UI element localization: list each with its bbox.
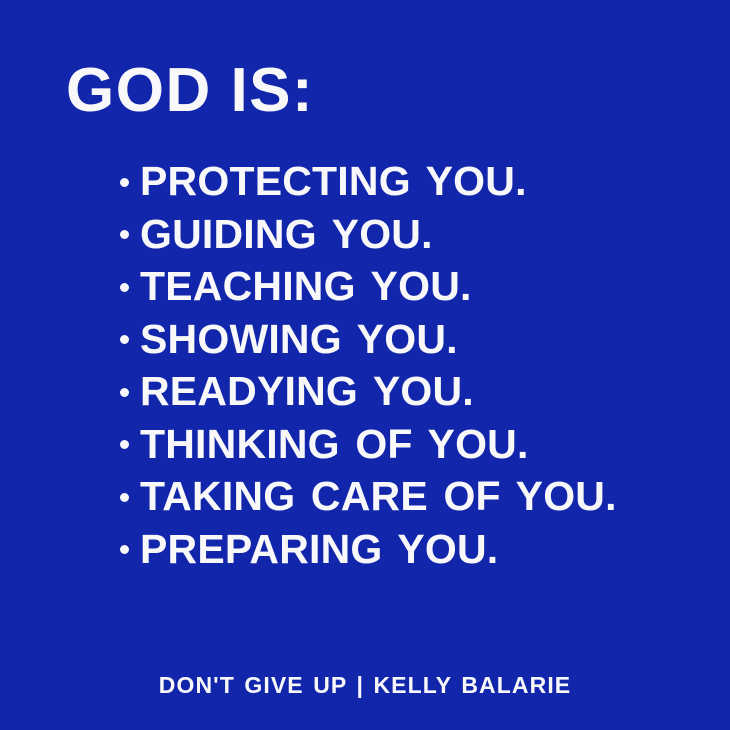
list-item-label: PREPARING YOU.	[140, 527, 498, 571]
list-item: SHOWING YOU.	[120, 313, 720, 366]
list-item-label: TEACHING YOU.	[140, 264, 472, 308]
page-title: GOD IS:	[66, 60, 314, 122]
list-item-label: SHOWING YOU.	[140, 317, 458, 361]
list-item: THINKING OF YOU.	[120, 418, 720, 471]
bullet-icon	[120, 335, 129, 344]
quote-poster: GOD IS: PROTECTING YOU. GUIDING YOU. TEA…	[0, 0, 730, 730]
list-item: GUIDING YOU.	[120, 208, 720, 261]
list-item: TEACHING YOU.	[120, 260, 720, 313]
list-item-label: THINKING OF YOU.	[140, 422, 529, 466]
list-item: TAKING CARE OF YOU.	[120, 470, 720, 523]
list-item-label: GUIDING YOU.	[140, 212, 433, 256]
list-item-label: TAKING CARE OF YOU.	[140, 474, 617, 518]
bullet-icon	[120, 440, 129, 449]
list-item: PREPARING YOU.	[120, 523, 720, 576]
blessing-list: PROTECTING YOU. GUIDING YOU. TEACHING YO…	[120, 155, 720, 575]
list-item-label: READYING YOU.	[140, 369, 474, 413]
list-item-label: PROTECTING YOU.	[140, 159, 527, 203]
footer-attribution: DON'T GIVE UP | KELLY BALARIE	[0, 672, 730, 698]
bullet-icon	[120, 493, 129, 502]
list-item: PROTECTING YOU.	[120, 155, 720, 208]
bullet-icon	[120, 388, 129, 397]
bullet-icon	[120, 178, 129, 187]
bullet-icon	[120, 230, 129, 239]
list-item: READYING YOU.	[120, 365, 720, 418]
bullet-icon	[120, 283, 129, 292]
bullet-icon	[120, 545, 129, 554]
